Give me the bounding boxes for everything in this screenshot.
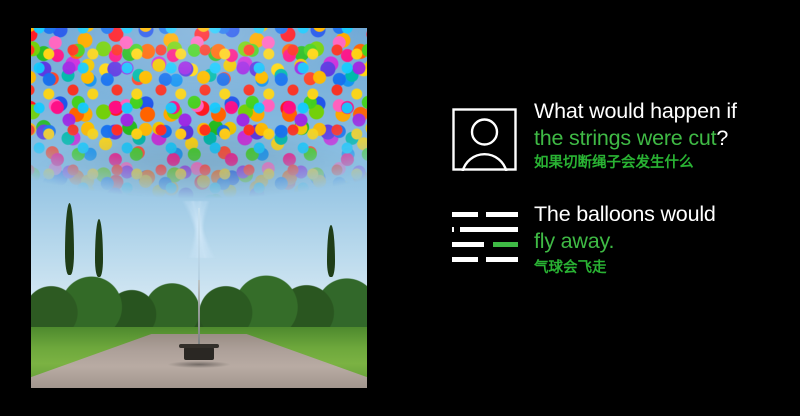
assistant-icon-column bbox=[452, 199, 534, 267]
bench-object bbox=[184, 347, 214, 360]
person-avatar-icon bbox=[452, 108, 517, 171]
user-question-highlight: the strings were cut bbox=[534, 126, 716, 150]
user-question-line-1: What would happen if bbox=[534, 98, 782, 125]
user-question-translation: 如果切断绳子会发生什么 bbox=[534, 153, 782, 173]
user-icon-column bbox=[452, 96, 534, 171]
user-question-line-2: the strings were cut? bbox=[534, 125, 782, 152]
tall-tree bbox=[65, 203, 74, 275]
balloon-shading bbox=[31, 28, 367, 244]
assistant-answer-highlight: fly away. bbox=[534, 229, 614, 253]
balloon-tether-pole bbox=[198, 280, 200, 348]
user-message-text: What would happen if the strings were cu… bbox=[534, 96, 782, 173]
tall-tree bbox=[327, 225, 335, 277]
balloon-cluster bbox=[31, 28, 367, 244]
user-question-punctuation: ? bbox=[716, 126, 728, 150]
balloon-photo bbox=[31, 28, 367, 388]
assistant-message-text: The balloons would fly away. 气球会飞走 bbox=[534, 199, 782, 278]
assistant-message-row: The balloons would fly away. 气球会飞走 bbox=[452, 199, 782, 278]
bench-shadow bbox=[168, 361, 230, 368]
assistant-answer-line-2: fly away. bbox=[534, 228, 782, 255]
assistant-answer-translation: 气球会飞走 bbox=[534, 258, 782, 278]
conversation-panel: What would happen if the strings were cu… bbox=[452, 96, 782, 278]
broken-lines-icon bbox=[452, 211, 518, 267]
assistant-answer-line-1: The balloons would bbox=[534, 201, 782, 228]
user-message-row: What would happen if the strings were cu… bbox=[452, 96, 782, 173]
